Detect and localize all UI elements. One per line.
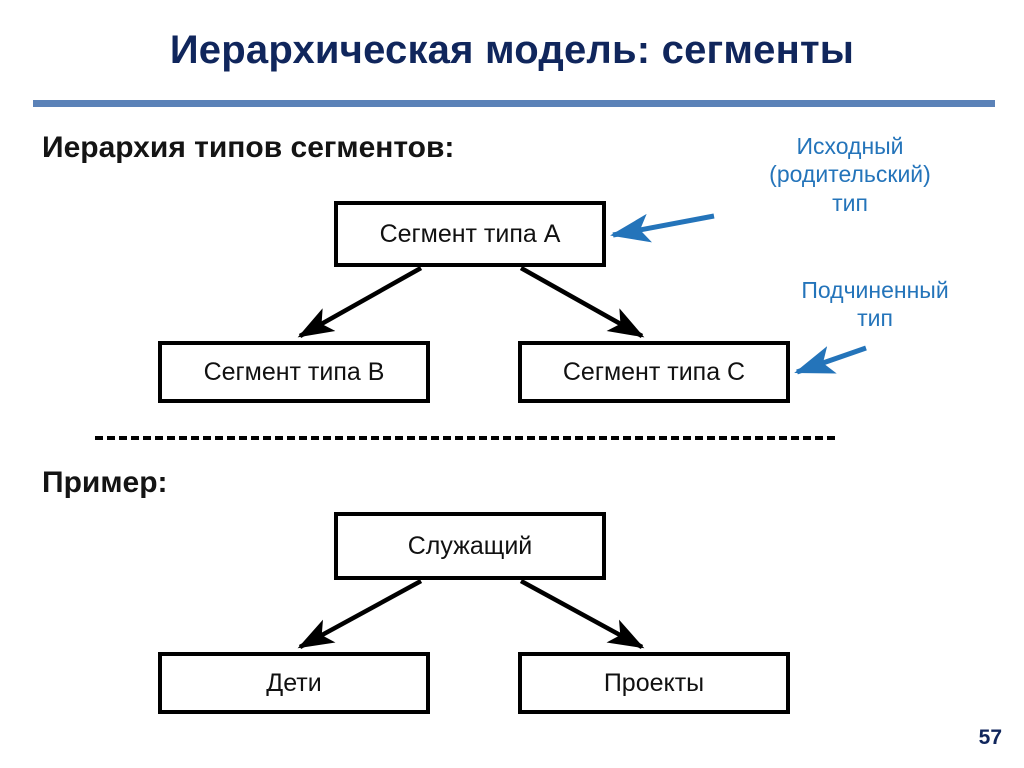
annotation-parent-line-3: тип (700, 189, 1000, 217)
example-section-heading: Пример: (42, 466, 168, 500)
title-divider-rule (33, 100, 995, 107)
node-segment-type-b[interactable]: Сегмент типа B (158, 341, 430, 403)
connector-employee-to-projects (521, 581, 642, 647)
callout-arrow-parent-type (613, 216, 714, 235)
annotation-child-type: Подчиненный тип (740, 276, 1010, 333)
page-title: Иерархическая модель: сегменты (0, 28, 1024, 73)
node-segment-type-c[interactable]: Сегмент типа C (518, 341, 790, 403)
page-number: 57 (979, 726, 1002, 750)
connector-type-a-to-type-b (300, 268, 421, 336)
diagram-connectors (0, 0, 1024, 768)
slide: Иерархическая модель: сегменты Иерархия … (0, 0, 1024, 768)
connector-employee-to-children (300, 581, 421, 647)
annotation-parent-line-1: Исходный (700, 132, 1000, 160)
node-segment-type-a[interactable]: Сегмент типа A (334, 201, 606, 267)
annotation-child-line-2: тип (740, 304, 1010, 332)
dashed-separator (95, 436, 835, 440)
node-employee[interactable]: Служащий (334, 512, 606, 580)
annotation-child-line-1: Подчиненный (740, 276, 1010, 304)
node-projects[interactable]: Проекты (518, 652, 790, 714)
annotation-parent-line-2: (родительский) (700, 160, 1000, 188)
callout-arrow-child-type (797, 348, 866, 372)
connector-type-a-to-type-c (521, 268, 642, 336)
hierarchy-section-heading: Иерархия типов сегментов: (42, 131, 454, 165)
annotation-parent-type: Исходный (родительский) тип (700, 132, 1000, 217)
node-children[interactable]: Дети (158, 652, 430, 714)
